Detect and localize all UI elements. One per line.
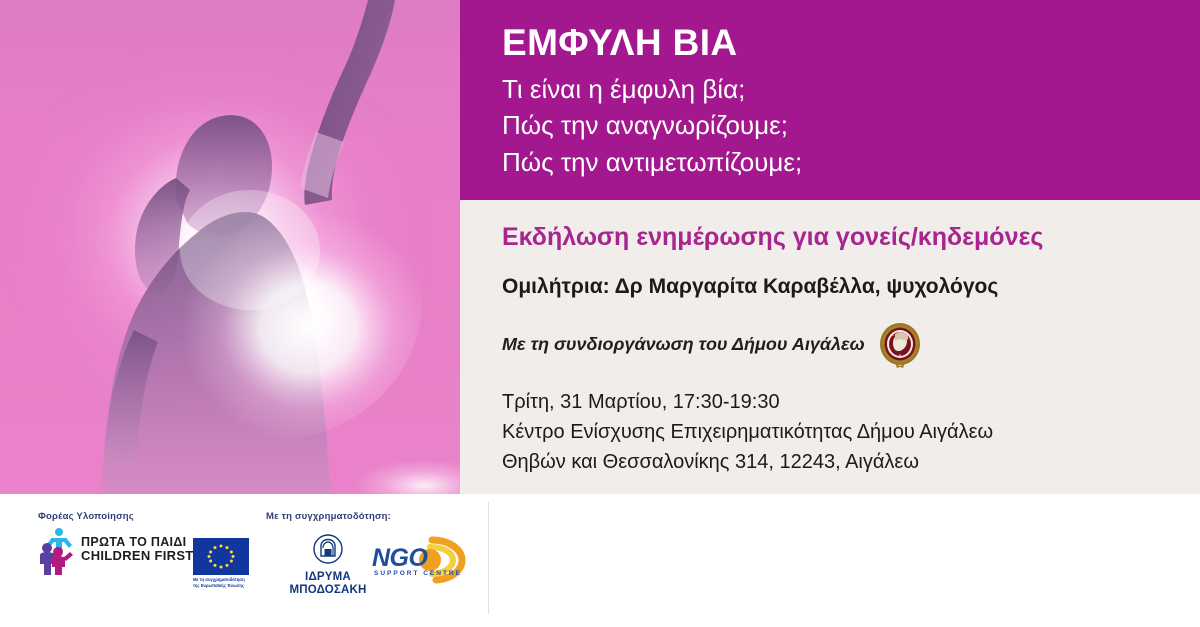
hero-question-3: Πώς την αντιμετωπίζουμε; xyxy=(502,144,1160,181)
event-logistics: Τρίτη, 31 Μαρτίου, 17:30-19:30 Κέντρο Εν… xyxy=(502,387,1166,477)
prota-to-paidi-logo[interactable]: ΠΡΩΤΑ ΤΟ ΠΑΙΔΙ CHILDREN FIRST xyxy=(33,526,149,578)
municipality-seal-icon xyxy=(877,321,923,369)
hero-questions: Τι είναι η έμφυλη βία; Πώς την αναγνωρίζ… xyxy=(502,71,1160,182)
event-heading: Εκδήλωση ενημέρωσης για γονείς/κηδεμόνες xyxy=(502,222,1166,252)
prota-to-paidi-wordmark: ΠΡΩΤΑ ΤΟ ΠΑΙΔΙ CHILDREN FIRST xyxy=(81,536,194,563)
eu-funding-logo[interactable]: Με τη συγχρηματοδότηση της Ευρωπαϊκής Έν… xyxy=(193,538,259,582)
ngo-support-centre-logo[interactable]: NGO SUPPORT CENTRE xyxy=(370,534,474,584)
woman-silhouette xyxy=(0,0,460,494)
eu-flag-icon xyxy=(193,538,249,575)
ptp-english-name: CHILDREN FIRST xyxy=(81,549,194,563)
bodossaki-mark-icon xyxy=(311,534,345,564)
ngo-wordmark: NGO xyxy=(372,544,427,573)
implementer-label: Φορέας Υλοποίησης xyxy=(38,511,134,522)
event-speaker: Ομιλήτρια: Δρ Μαργαρίτα Καραβέλλα, ψυχολ… xyxy=(502,274,1166,299)
hero-banner: ΕΜΦΥΛΗ ΒΙΑ Τι είναι η έμφυλη βία; Πώς τη… xyxy=(460,0,1200,200)
event-datetime: Τρίτη, 31 Μαρτίου, 17:30-19:30 xyxy=(502,387,1166,417)
hero-photo xyxy=(0,0,460,494)
eu-caption-line-2: της Ευρωπαϊκής Ένωσης xyxy=(193,583,255,589)
photo-clouds xyxy=(340,438,460,494)
bodossaki-line-2: ΜΠΟΔΟΣΑΚΗ xyxy=(289,584,367,597)
event-address: Θηβών και Θεσσαλονίκης 314, 12243, Αιγάλ… xyxy=(502,447,1166,477)
footer-logos: Φορέας Υλοποίησης Με τη συγχρηματοδότηση… xyxy=(0,494,488,627)
prota-to-paidi-mark-icon xyxy=(33,526,81,576)
hero-question-1: Τι είναι η έμφυλη βία; xyxy=(502,71,1160,108)
event-details-panel: Εκδήλωση ενημέρωσης για γονείς/κηδεμόνες… xyxy=(460,200,1200,494)
eu-funding-caption: Με τη συγχρηματοδότηση της Ευρωπαϊκής Έν… xyxy=(193,577,255,588)
ngo-tagline: SUPPORT CENTRE xyxy=(374,570,462,577)
poster-root: ΕΜΦΥΛΗ ΒΙΑ Τι είναι η έμφυλη βία; Πώς τη… xyxy=(0,0,1200,627)
bodossaki-foundation-logo[interactable]: ΙΔΡΥΜΑ ΜΠΟΔΟΣΑΚΗ xyxy=(289,534,367,582)
footer-divider xyxy=(488,502,489,614)
footer: Φορέας Υλοποίησης Με τη συγχρηματοδότηση… xyxy=(0,494,1200,627)
cofunding-label: Με τη συγχρηματοδότηση: xyxy=(266,511,391,522)
event-venue: Κέντρο Ενίσχυσης Επιχειρηματικότητας Δήμ… xyxy=(502,417,1166,447)
bodossaki-line-1: ΙΔΡΥΜΑ xyxy=(289,571,367,584)
page-title: ΕΜΦΥΛΗ ΒΙΑ xyxy=(502,22,1160,65)
hero-question-2: Πώς την αναγνωρίζουμε; xyxy=(502,107,1160,144)
coorganizer-row: Με τη συνδιοργάνωση του Δήμου Αιγάλεω xyxy=(502,319,1166,371)
bodossaki-wordmark: ΙΔΡΥΜΑ ΜΠΟΔΟΣΑΚΗ xyxy=(289,571,367,597)
coorganizer-text: Με τη συνδιοργάνωση του Δήμου Αιγάλεω xyxy=(502,334,865,356)
